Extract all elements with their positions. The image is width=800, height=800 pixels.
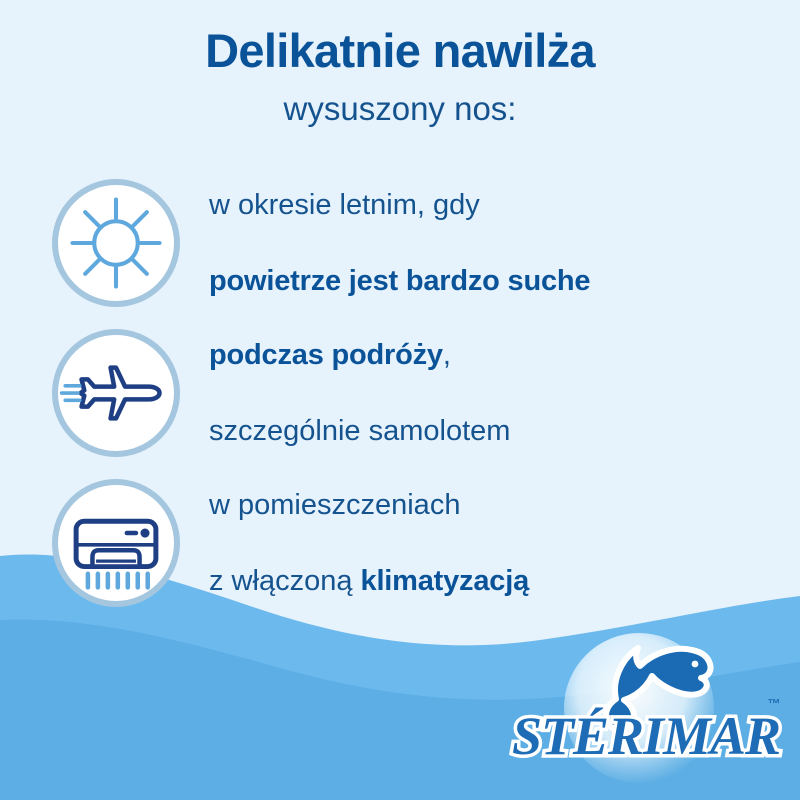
list-item-line-1: w okresie letnim, gdy: [209, 186, 590, 224]
list-item: w pomieszczeniach z włączoną klimatyzacj…: [0, 468, 800, 618]
logo-brand-text: STÉRIMAR: [512, 706, 780, 766]
page-subtitle: wysuszony nos:: [0, 89, 800, 129]
list-item-line-2-regular: z włączoną: [209, 565, 361, 597]
logo-wordmark: STÉRIMAR: [512, 706, 780, 766]
air-conditioner-icon: [58, 485, 174, 601]
sterimar-logo-art: STÉRIMAR ™: [496, 604, 796, 789]
sun-icon-badge: [52, 179, 180, 307]
list-item-line-2: szczególnie samolotem: [209, 412, 510, 450]
list-item-line-2: powietrze jest bardzo suche: [209, 265, 590, 297]
list-item: w okresie letnim, gdy powietrze jest bar…: [0, 168, 800, 318]
airplane-icon-badge: [52, 329, 180, 457]
list-item-text: w pomieszczeniach z włączoną klimatyzacj…: [209, 447, 529, 638]
page-title: Delikatnie nawilża: [0, 24, 800, 79]
airplane-icon: [58, 335, 174, 451]
logo-trademark: ™: [768, 696, 781, 711]
list-item: podczas podróży, szczególnie samolotem: [0, 318, 800, 468]
benefit-list: w okresie letnim, gdy powietrze jest bar…: [0, 168, 800, 618]
list-item-line-1-comma: ,: [443, 339, 451, 371]
air-conditioner-icon-badge: [52, 479, 180, 607]
list-item-line-2-bold: klimatyzacją: [361, 565, 530, 597]
header: Delikatnie nawilża wysuszony nos:: [0, 24, 800, 128]
sterimar-logo: STÉRIMAR ™: [496, 604, 796, 789]
sun-icon: [58, 185, 174, 301]
list-item-line-1-bold: podczas podróży: [209, 339, 443, 371]
poster: Delikatnie nawilża wysuszony nos:: [0, 0, 800, 800]
list-item-line-1: w pomieszczeniach: [209, 486, 529, 524]
